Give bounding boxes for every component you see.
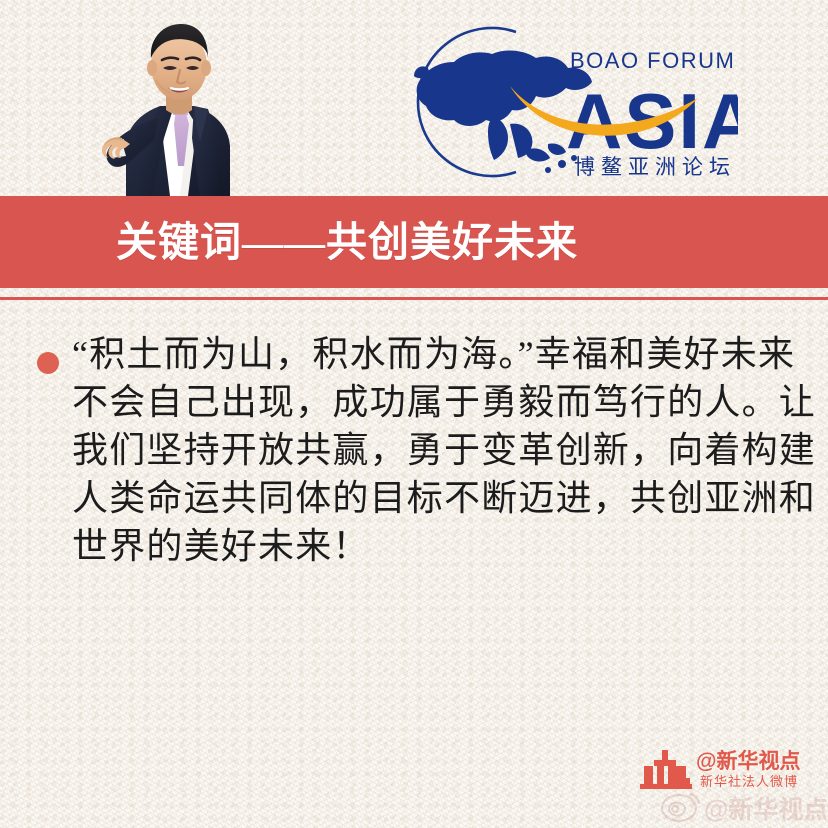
quote-paragraph: “积土而为山，积水而为海。”幸福和美好未来 不会自己出现，成功属于勇毅而笃行的人… xyxy=(0,330,828,570)
quote-line-5: 世界的美好未来！ xyxy=(72,522,798,570)
svg-text:@新华视点: @新华视点 xyxy=(696,749,800,773)
portrait-photo xyxy=(96,6,258,196)
banner-title: 关键词——共创美好未来 xyxy=(116,222,578,263)
quote-line-2: 不会自己出现，成功属于勇毅而笃行的人。让 xyxy=(72,378,798,426)
content-area: “积土而为山，积水而为海。”幸福和美好未来 不会自己出现，成功属于勇毅而笃行的人… xyxy=(0,330,828,570)
svg-text:@新华视点: @新华视点 xyxy=(704,795,826,824)
section-banner: 关键词——共创美好未来 xyxy=(0,196,828,288)
poster-canvas: BOAO FORUM FOR ASIA 博鳌亚洲论坛 关键词——共创美好未来 “… xyxy=(0,0,828,828)
svg-text:新华社法人微博: 新华社法人微博 xyxy=(700,774,798,789)
quote-line-1: “积土而为山，积水而为海。”幸福和美好未来 xyxy=(72,330,798,378)
weibo-watermark: @新华视点 xyxy=(660,788,826,824)
boao-forum-for-asia-logo: BOAO FORUM FOR ASIA 博鳌亚洲论坛 xyxy=(398,24,738,180)
xinhua-account-logo: @新华视点 新华社法人微博 xyxy=(640,746,820,792)
weibo-eye-icon xyxy=(662,794,699,821)
divider-rule xyxy=(0,297,828,300)
svg-text:BOAO FORUM FOR: BOAO FORUM FOR xyxy=(570,48,738,73)
quote-line-3: 我们坚持开放共赢，勇于变革创新，向着构建 xyxy=(72,426,798,474)
header-area: BOAO FORUM FOR ASIA 博鳌亚洲论坛 xyxy=(0,0,828,196)
svg-text:博鳌亚洲论坛: 博鳌亚洲论坛 xyxy=(574,156,736,179)
quote-line-4: 人类命运共同体的目标不断迈进，共创亚洲和 xyxy=(72,474,798,522)
bullet-dot-icon xyxy=(37,352,59,374)
